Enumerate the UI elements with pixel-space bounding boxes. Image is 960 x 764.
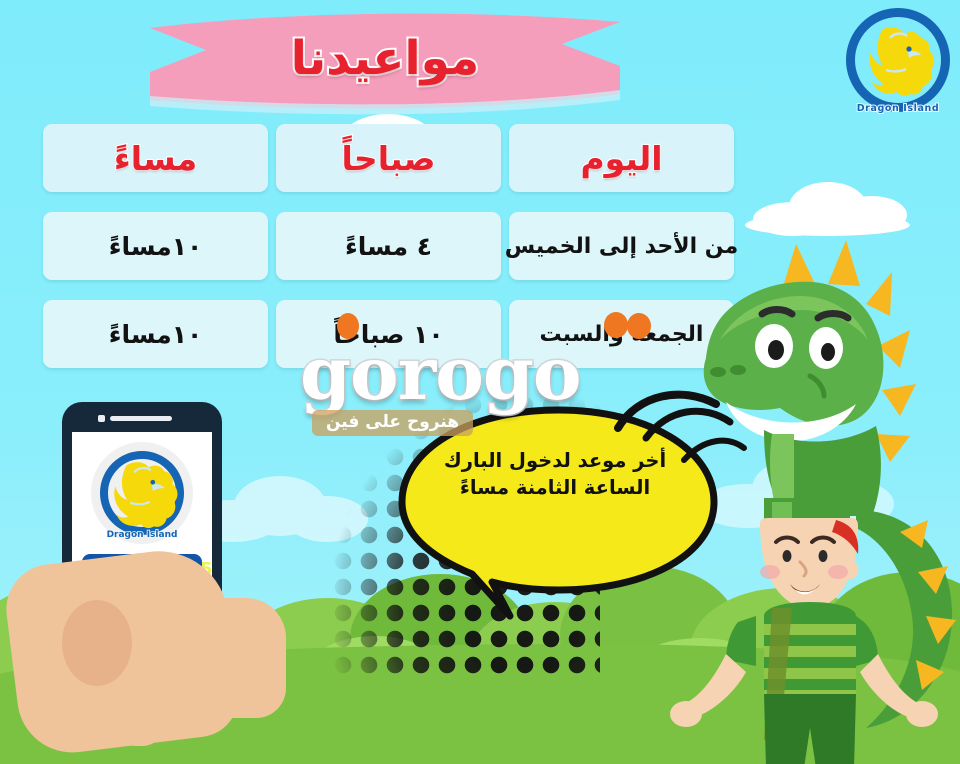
watermark: gorogo هنروح على فين <box>300 338 640 434</box>
bubble-line-2: الساعة الثامنة مساءً <box>436 475 674 502</box>
table-header-morning: صباحاً <box>276 124 501 192</box>
speech-bubble-text: أخر موعد لدخول البارك الساعة الثامنة مسا… <box>436 448 674 502</box>
bubble-line-1: أخر موعد لدخول البارك <box>436 448 674 475</box>
row1-morning-value: ٤ مساءً <box>345 232 432 261</box>
dragon-icon <box>91 442 193 544</box>
header-morning-label: صباحاً <box>342 139 436 178</box>
phone-speaker-icon <box>110 416 172 421</box>
logo-name: Dragon Island <box>846 103 950 114</box>
watermark-tagline: هنروح على فين <box>312 410 473 436</box>
banner-title-text: مواعيدنا <box>291 31 479 86</box>
phone-in-hand: Dragon Island 01200120015 <box>0 0 300 764</box>
phone-brand-logo: Dragon Island <box>91 442 193 544</box>
phone-camera-icon <box>98 415 105 422</box>
row1-morning-cell: ٤ مساءً <box>276 212 501 280</box>
poster-canvas: مواعيدنا Dragon Island اليوم صباحاً مساء… <box>0 0 960 764</box>
thumb-shade <box>62 600 132 686</box>
decorative-dot <box>627 313 651 339</box>
speech-bubble: أخر موعد لدخول البارك الساعة الثامنة مسا… <box>392 404 722 624</box>
phone-logo-name: Dragon Island <box>91 530 193 540</box>
header-day-label: اليوم <box>580 139 662 178</box>
brand-logo: Dragon Island <box>846 8 950 112</box>
speech-bubble-shape <box>392 404 722 624</box>
decorative-dot <box>604 312 628 338</box>
dragon-icon <box>846 8 950 112</box>
dino-head <box>704 240 916 462</box>
watermark-brand: gorogo <box>300 338 640 411</box>
